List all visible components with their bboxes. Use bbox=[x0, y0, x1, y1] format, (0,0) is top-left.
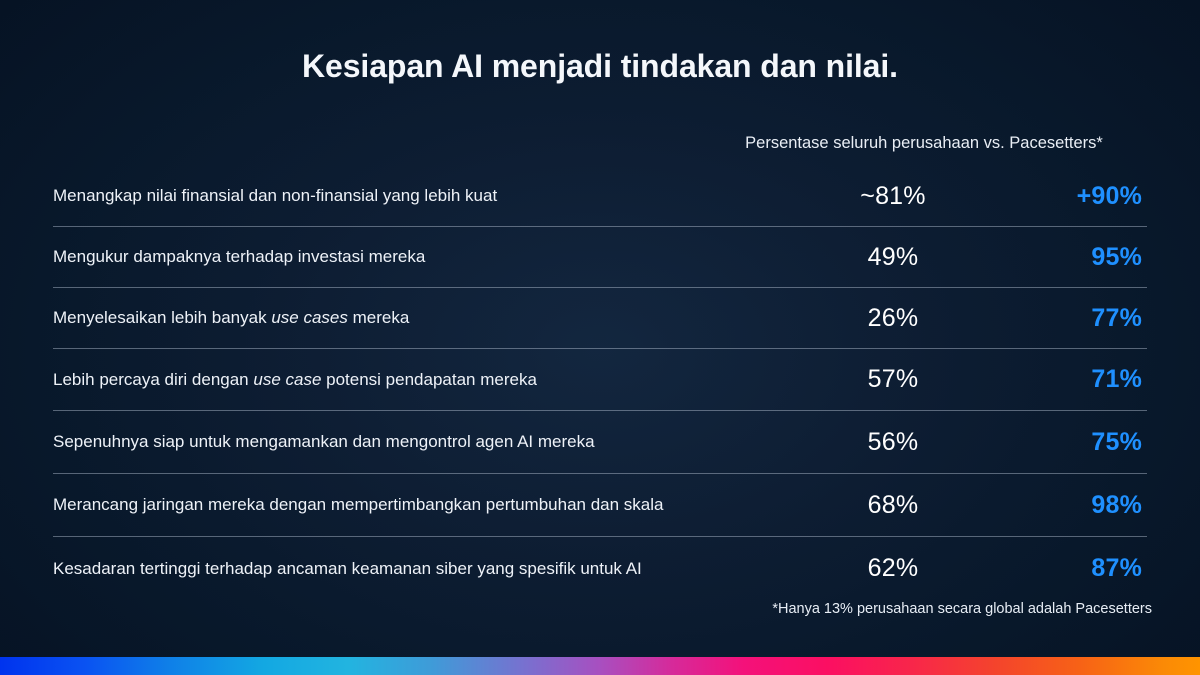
value-all-companies: 26% bbox=[818, 304, 968, 333]
row-label-text-tail: mereka bbox=[348, 308, 409, 327]
row-label-text: Sepenuhnya siap untuk mengamankan dan me… bbox=[53, 432, 595, 451]
table-row: Lebih percaya diri dengan use case poten… bbox=[53, 349, 1147, 411]
table-row: Mengukur dampaknya terhadap investasi me… bbox=[53, 227, 1147, 288]
row-label-text: Merancang jaringan mereka dengan mempert… bbox=[53, 495, 663, 514]
row-label: Menyelesaikan lebih banyak use cases mer… bbox=[53, 306, 818, 329]
readiness-table: Menangkap nilai finansial dan non-finans… bbox=[53, 166, 1147, 600]
value-all-companies: ~81% bbox=[818, 182, 968, 211]
value-all-companies: 56% bbox=[818, 428, 968, 457]
table-row: Menangkap nilai finansial dan non-finans… bbox=[53, 166, 1147, 227]
row-label-emphasis: use case bbox=[253, 370, 321, 389]
slide-canvas: Kesiapan AI menjadi tindakan dan nilai. … bbox=[0, 0, 1200, 675]
value-all-companies: 49% bbox=[818, 243, 968, 272]
table-row: Kesadaran tertinggi terhadap ancaman kea… bbox=[53, 537, 1147, 600]
value-all-companies: 62% bbox=[818, 554, 968, 583]
row-label: Merancang jaringan mereka dengan mempert… bbox=[53, 493, 818, 516]
row-label-text: Lebih percaya diri dengan bbox=[53, 370, 253, 389]
table-row: Merancang jaringan mereka dengan mempert… bbox=[53, 474, 1147, 537]
row-label-text: Menangkap nilai finansial dan non-finans… bbox=[53, 186, 497, 205]
table-row: Sepenuhnya siap untuk mengamankan dan me… bbox=[53, 411, 1147, 474]
page-title: Kesiapan AI menjadi tindakan dan nilai. bbox=[0, 48, 1200, 85]
row-label-text: Mengukur dampaknya terhadap investasi me… bbox=[53, 247, 425, 266]
row-label-text-tail: potensi pendapatan mereka bbox=[321, 370, 537, 389]
value-pacesetters: 71% bbox=[968, 365, 1147, 394]
row-label: Mengukur dampaknya terhadap investasi me… bbox=[53, 245, 818, 268]
row-label-text: Menyelesaikan lebih banyak bbox=[53, 308, 271, 327]
value-pacesetters: 75% bbox=[968, 428, 1147, 457]
row-label: Menangkap nilai finansial dan non-finans… bbox=[53, 184, 818, 207]
row-label: Sepenuhnya siap untuk mengamankan dan me… bbox=[53, 430, 818, 453]
table-row: Menyelesaikan lebih banyak use cases mer… bbox=[53, 288, 1147, 349]
value-all-companies: 57% bbox=[818, 365, 968, 394]
value-pacesetters: +90% bbox=[968, 182, 1147, 211]
column-header-label: Persentase seluruh perusahaan vs. Pacese… bbox=[700, 134, 1148, 153]
row-label: Lebih percaya diri dengan use case poten… bbox=[53, 368, 818, 391]
value-pacesetters: 98% bbox=[968, 491, 1147, 520]
value-all-companies: 68% bbox=[818, 491, 968, 520]
value-pacesetters: 87% bbox=[968, 554, 1147, 583]
row-label: Kesadaran tertinggi terhadap ancaman kea… bbox=[53, 557, 818, 580]
row-label-text: Kesadaran tertinggi terhadap ancaman kea… bbox=[53, 559, 642, 578]
value-pacesetters: 95% bbox=[968, 243, 1147, 272]
bottom-gradient-bar bbox=[0, 657, 1200, 675]
value-pacesetters: 77% bbox=[968, 304, 1147, 333]
row-label-emphasis: use cases bbox=[271, 308, 348, 327]
footnote-text: *Hanya 13% perusahaan secara global adal… bbox=[0, 601, 1152, 617]
